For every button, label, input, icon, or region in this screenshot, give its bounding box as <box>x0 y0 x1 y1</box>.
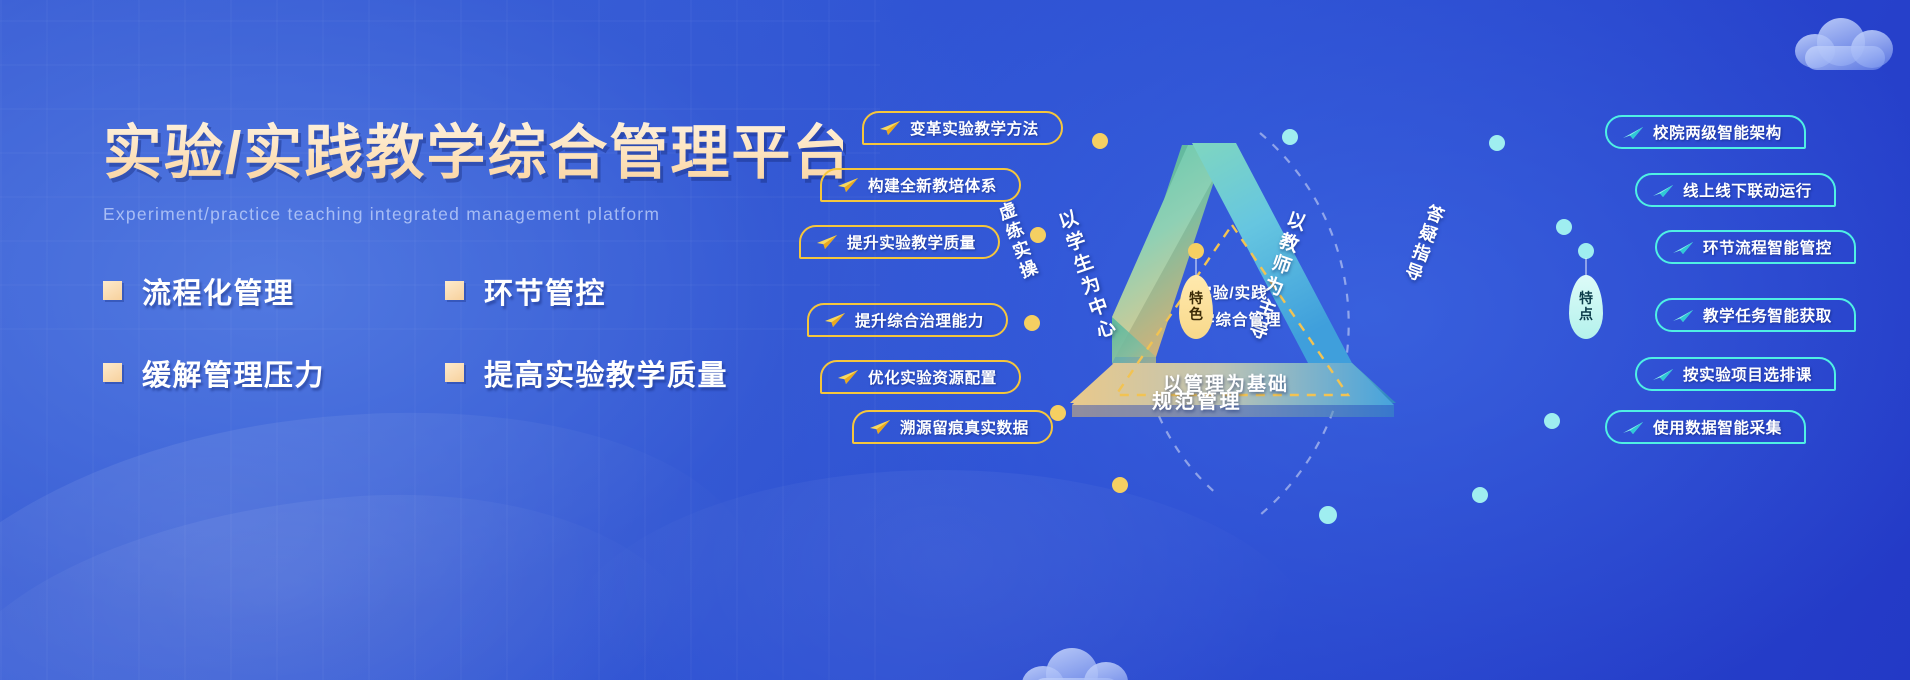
paper-plane-icon <box>837 177 859 193</box>
left-pill-label: 提升实验教学质量 <box>847 231 976 253</box>
paper-plane-icon <box>1622 419 1644 435</box>
badge-right-char-2: 点 <box>1579 307 1593 323</box>
paper-plane-icon <box>879 120 901 136</box>
arc-dot-cyan <box>1282 129 1298 145</box>
left-pill-2[interactable]: 提升实验教学质量 <box>799 225 1000 259</box>
triangle-center-label: 实验/实践 教学综合管理 <box>1142 280 1322 334</box>
left-pill-label: 优化实验资源配置 <box>868 366 997 388</box>
leaf-dot-right <box>1578 243 1594 259</box>
feature-item-1: 环节管控 <box>445 270 843 312</box>
paper-plane-icon <box>837 369 859 385</box>
arc-dot-cyan <box>1489 135 1505 151</box>
left-pill-5[interactable]: 溯源留痕真实数据 <box>852 410 1053 444</box>
triangle-center-line-1: 实验/实践 <box>1142 280 1322 307</box>
feature-list: 流程化管理 环节管控 缓解管理压力 提高实验教学质量 <box>103 270 843 394</box>
arc-dot-cyan <box>1544 413 1560 429</box>
page-subtitle: Experiment/practice teaching integrated … <box>103 204 843 225</box>
feature-item-2: 缓解管理压力 <box>103 352 445 394</box>
paper-plane-icon <box>1672 239 1694 255</box>
right-pill-4[interactable]: 按实验项目选排课 <box>1635 357 1836 391</box>
left-pill-1[interactable]: 构建全新教培体系 <box>820 168 1021 202</box>
arc-dot-gold <box>1092 133 1108 149</box>
leaf-stem-left <box>1195 258 1197 276</box>
feature-item-3: 提高实验教学质量 <box>445 352 843 394</box>
arc-dot-gold <box>1050 405 1066 421</box>
arc-dot-gold <box>1030 227 1046 243</box>
paper-plane-icon <box>824 312 846 328</box>
cloud-icon-bottom <box>1022 648 1142 680</box>
banner-root: 实验/实践教学综合管理平台 Experiment/practice teachi… <box>0 0 1910 680</box>
arc-dot-cyan <box>1556 219 1572 235</box>
paper-plane-icon <box>869 419 891 435</box>
left-pill-label: 提升综合治理能力 <box>855 309 984 331</box>
paper-plane-icon <box>1672 307 1694 323</box>
hero-text-block: 实验/实践教学综合管理平台 Experiment/practice teachi… <box>103 120 843 394</box>
leaf-dot-left <box>1188 243 1204 259</box>
left-pill-label: 溯源留痕真实数据 <box>900 416 1029 438</box>
left-pill-label: 变革实验教学方法 <box>910 117 1039 139</box>
paper-plane-icon <box>1652 182 1674 198</box>
badge-left-char-2: 色 <box>1189 307 1203 323</box>
right-pill-label: 按实验项目选排课 <box>1683 363 1812 385</box>
triangle-diagram: 以学生为中心 以教师为主导 以管理为基础 虚练实操 答疑指导 实验/实践 教学综… <box>960 95 1910 575</box>
feature-label: 缓解管理压力 <box>142 352 325 394</box>
diagram-bottom-caption: 规范管理 <box>1152 385 1242 414</box>
leaf-stem-right <box>1585 258 1587 276</box>
left-pill-label: 构建全新教培体系 <box>868 174 997 196</box>
arc-dot-cyan <box>1319 506 1337 524</box>
right-pill-label: 使用数据智能采集 <box>1653 416 1782 438</box>
right-pill-3[interactable]: 教学任务智能获取 <box>1655 298 1856 332</box>
right-pill-1[interactable]: 线上线下联动运行 <box>1635 173 1836 207</box>
arc-dot-gold <box>1112 477 1128 493</box>
paper-plane-icon <box>1652 366 1674 382</box>
triangle-center-line-2: 教学综合管理 <box>1142 307 1322 334</box>
badge-left-char-1: 特 <box>1189 291 1203 307</box>
background-wave-shape-2 <box>0 468 713 680</box>
cloud-icon-top-right <box>1795 18 1905 70</box>
left-pill-3[interactable]: 提升综合治理能力 <box>807 303 1008 337</box>
right-pill-0[interactable]: 校院两级智能架构 <box>1605 115 1806 149</box>
left-pill-0[interactable]: 变革实验教学方法 <box>862 111 1063 145</box>
paper-plane-icon <box>816 234 838 250</box>
right-pill-label: 教学任务智能获取 <box>1703 304 1832 326</box>
right-pill-label: 校院两级智能架构 <box>1653 121 1782 143</box>
feature-label: 环节管控 <box>484 270 606 312</box>
feature-label: 流程化管理 <box>142 270 295 312</box>
right-pill-2[interactable]: 环节流程智能管控 <box>1655 230 1856 264</box>
arc-dot-gold <box>1024 315 1040 331</box>
right-pill-label: 环节流程智能管控 <box>1703 236 1832 258</box>
right-pill-label: 线上线下联动运行 <box>1683 179 1812 201</box>
paper-plane-icon <box>1622 124 1644 140</box>
square-bullet-icon <box>103 281 122 300</box>
square-bullet-icon <box>445 363 464 382</box>
page-title: 实验/实践教学综合管理平台 <box>103 120 843 188</box>
right-pill-5[interactable]: 使用数据智能采集 <box>1605 410 1806 444</box>
left-pill-4[interactable]: 优化实验资源配置 <box>820 360 1021 394</box>
badge-right-char-1: 特 <box>1579 291 1593 307</box>
feature-item-0: 流程化管理 <box>103 270 445 312</box>
arc-dot-cyan <box>1472 487 1488 503</box>
feature-label: 提高实验教学质量 <box>484 352 728 394</box>
background-wave-shape-1 <box>0 359 785 680</box>
square-bullet-icon <box>445 281 464 300</box>
square-bullet-icon <box>103 363 122 382</box>
